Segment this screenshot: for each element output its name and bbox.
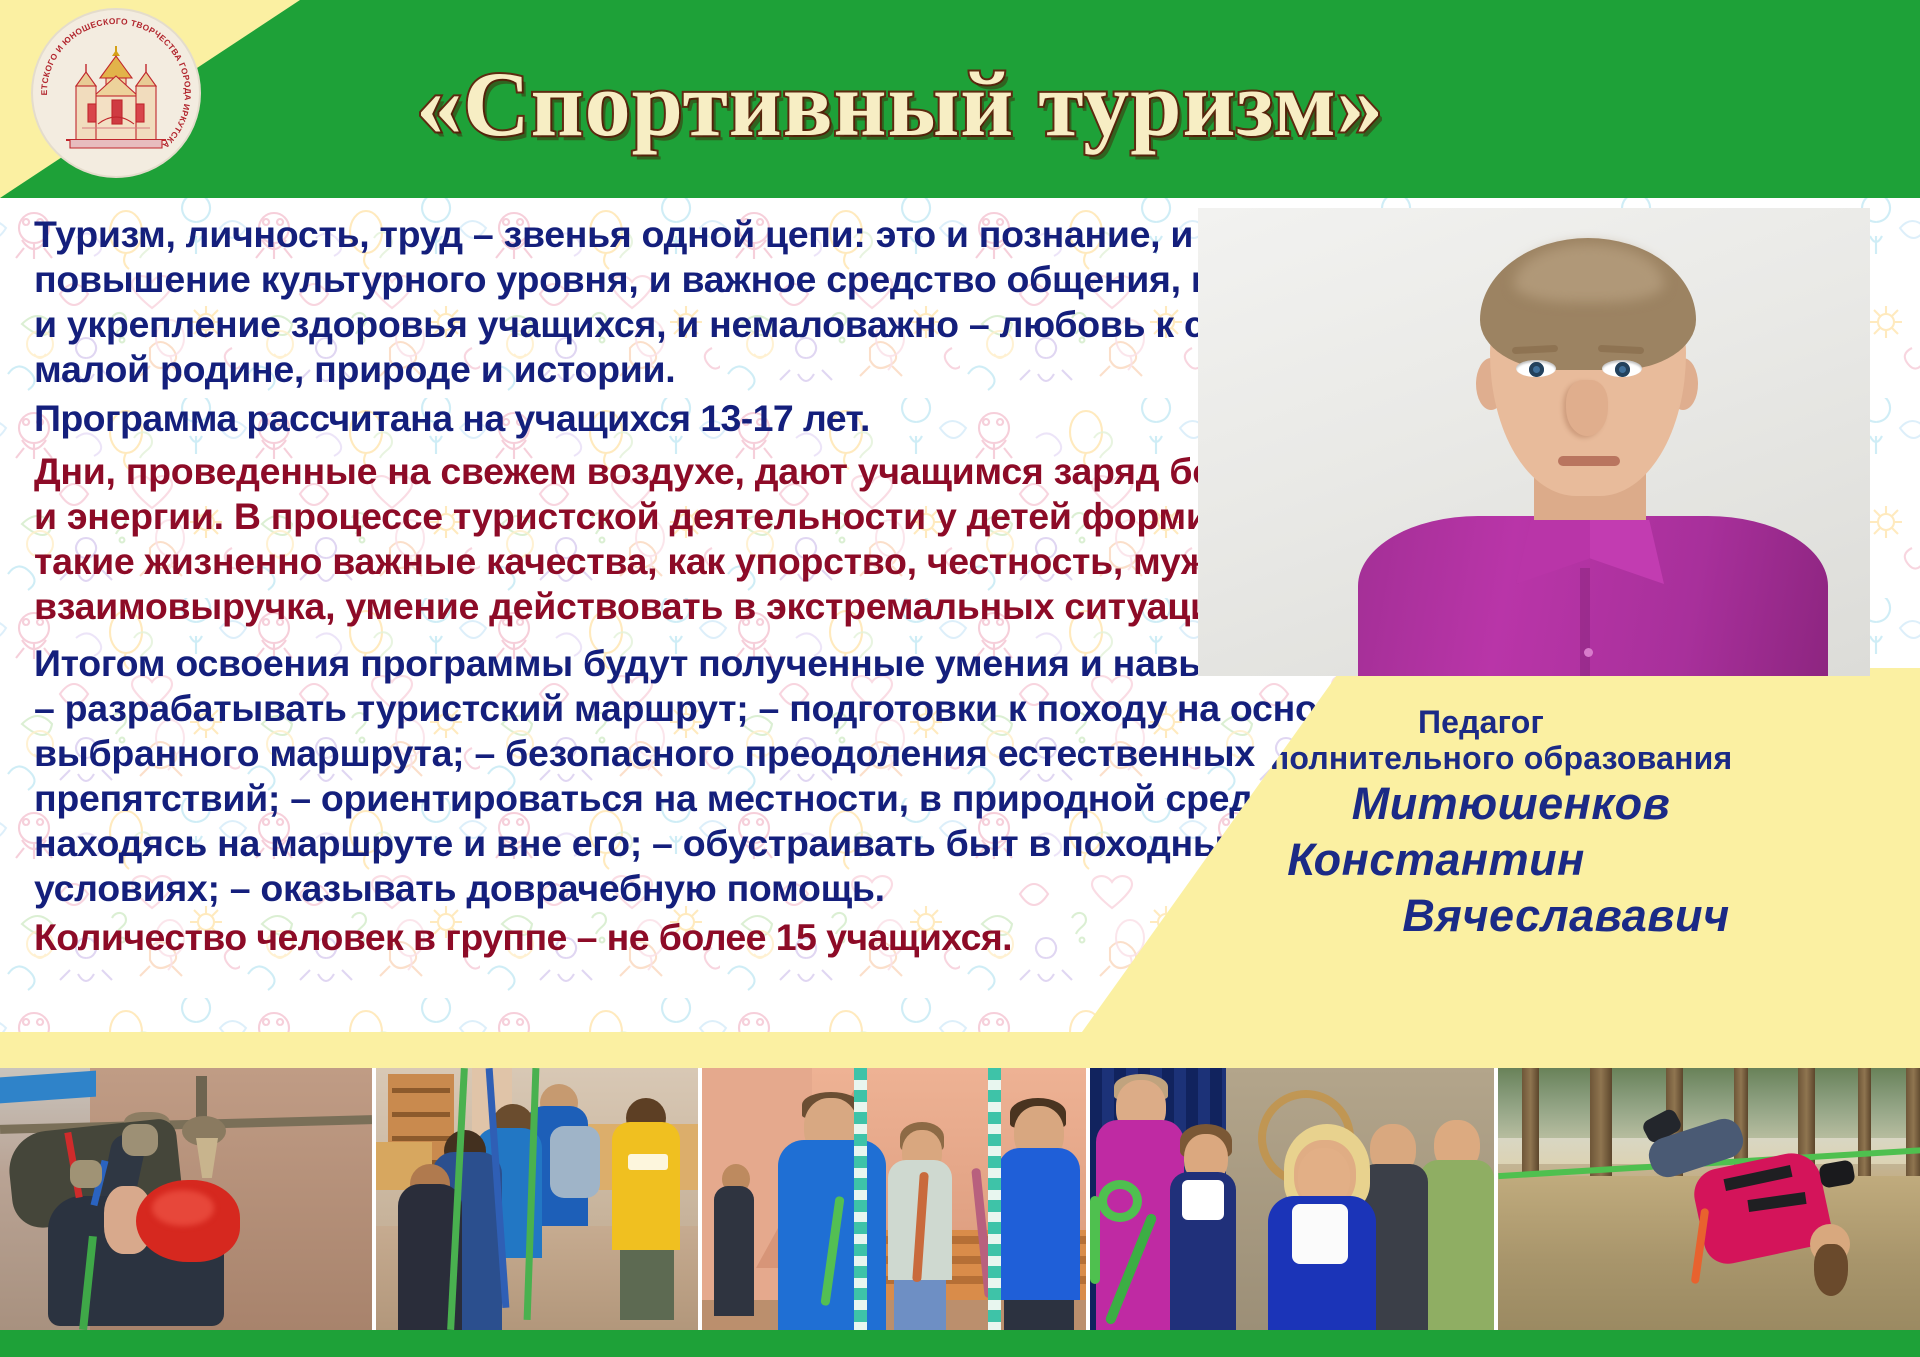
- photo-forest-traverse: [1498, 1068, 1920, 1330]
- group-size-text: Количество человек в группе – не более 1…: [34, 915, 1214, 960]
- portrait-shirt-button: [1584, 648, 1593, 657]
- paragraph-line: выбранного маршрута; – безопасного преод…: [34, 731, 1214, 776]
- photo3-far-child-body: [714, 1186, 754, 1316]
- paragraph-line: Итогом освоения программы будут полученн…: [34, 641, 1214, 686]
- paragraph-line: взаимовыручка, умение действовать в экст…: [34, 584, 1214, 629]
- main-text-column: Туризм, личность, труд – звенья одной це…: [34, 212, 1214, 960]
- photo1-glove-lower: [70, 1160, 102, 1188]
- photo2-backpack: [550, 1126, 600, 1198]
- photo1-blue-panel: [0, 1071, 96, 1104]
- paragraph-intro: Туризм, личность, труд – звенья одной це…: [34, 212, 1214, 392]
- age-requirement-text: Программа рассчитана на учащихся 13-17 л…: [34, 396, 1214, 441]
- poster-header: ДВОРЕЦ ДЕТСКОГО И ЮНОШЕСКОГО ТВОРЧЕСТВА …: [0, 0, 1920, 198]
- teacher-patronymic: Вячеслававич: [1082, 888, 1880, 944]
- paragraph-outcomes: Итогом освоения программы будут полученн…: [34, 641, 1214, 911]
- photo2-hoodie-text-band: [628, 1154, 668, 1170]
- photo-rope-climber: [0, 1068, 372, 1330]
- photo1-helmet-highlight: [152, 1190, 214, 1226]
- poster-body: Туризм, личность, труд – звенья одной це…: [0, 198, 1920, 1032]
- portrait-pupil-right: [1615, 362, 1630, 377]
- portrait-mouth: [1558, 456, 1620, 466]
- photo4-girl2-white-blouse: [1292, 1204, 1348, 1264]
- photo-knot-lesson: [702, 1068, 1086, 1330]
- page-title: «Спортивный туризм»: [250, 40, 1550, 168]
- photo-indoor-rope-group: [376, 1068, 698, 1330]
- footer-green-bar: [0, 1330, 1920, 1357]
- photo3-boy-hoodie: [998, 1148, 1080, 1300]
- photo-event-ropes: [1090, 1068, 1494, 1330]
- portrait-pupil-left: [1529, 362, 1544, 377]
- paragraph-line: такие жизненно важные качества, как упор…: [34, 539, 1214, 584]
- yellow-divider-strip: [0, 1032, 1920, 1070]
- photo3-striped-pole-2: [988, 1068, 1001, 1330]
- photo4-green-rope: [1090, 1196, 1100, 1284]
- photo4-person4-body: [1420, 1160, 1494, 1330]
- photo5-person-hair: [1814, 1244, 1848, 1296]
- portrait-nose: [1566, 380, 1608, 436]
- photo2-child5-yellow-hoodie: [612, 1122, 680, 1250]
- portrait-shirt-placket: [1580, 568, 1590, 676]
- organization-logo: ДВОРЕЦ ДЕТСКОГО И ЮНОШЕСКОГО ТВОРЧЕСТВА …: [33, 10, 199, 176]
- teacher-portrait: [1198, 208, 1870, 676]
- photo-gallery-strip: [0, 1068, 1920, 1330]
- paragraph-line: условиях; – оказывать доврачебную помощь…: [34, 866, 1214, 911]
- palace-building-icon: [56, 42, 176, 154]
- paragraph-line: Дни, проведенные на свежем воздухе, дают…: [34, 449, 1214, 494]
- spacer: [34, 633, 1214, 641]
- paragraph-line: находясь на маршруте и вне его; – обустр…: [34, 821, 1214, 866]
- paragraph-benefits: Дни, проведенные на свежем воздухе, дают…: [34, 449, 1214, 629]
- photo1-glove-upper: [122, 1124, 158, 1156]
- photo3-striped-pole-1: [854, 1068, 867, 1330]
- paragraph-line: Туризм, личность, труд – звенья одной це…: [34, 212, 1214, 257]
- photo4-rope-loop: [1098, 1180, 1142, 1222]
- paragraph-line: малой родине, природе и истории.: [34, 347, 1214, 392]
- photo2-child5-legs: [620, 1244, 674, 1320]
- paragraph-line: повышение культурного уровня, и важное с…: [34, 257, 1214, 302]
- paragraph-line: препятствий; – ориентироваться на местно…: [34, 776, 1214, 821]
- photo4-girl1-white-blouse: [1182, 1180, 1224, 1220]
- paragraph-line: и укрепление здоровья учащихся, и немало…: [34, 302, 1214, 347]
- spacer: [34, 441, 1214, 449]
- paragraph-line: – разрабатывать туристский маршрут; – по…: [34, 686, 1214, 731]
- paragraph-line: и энергии. В процессе туристской деятель…: [34, 494, 1214, 539]
